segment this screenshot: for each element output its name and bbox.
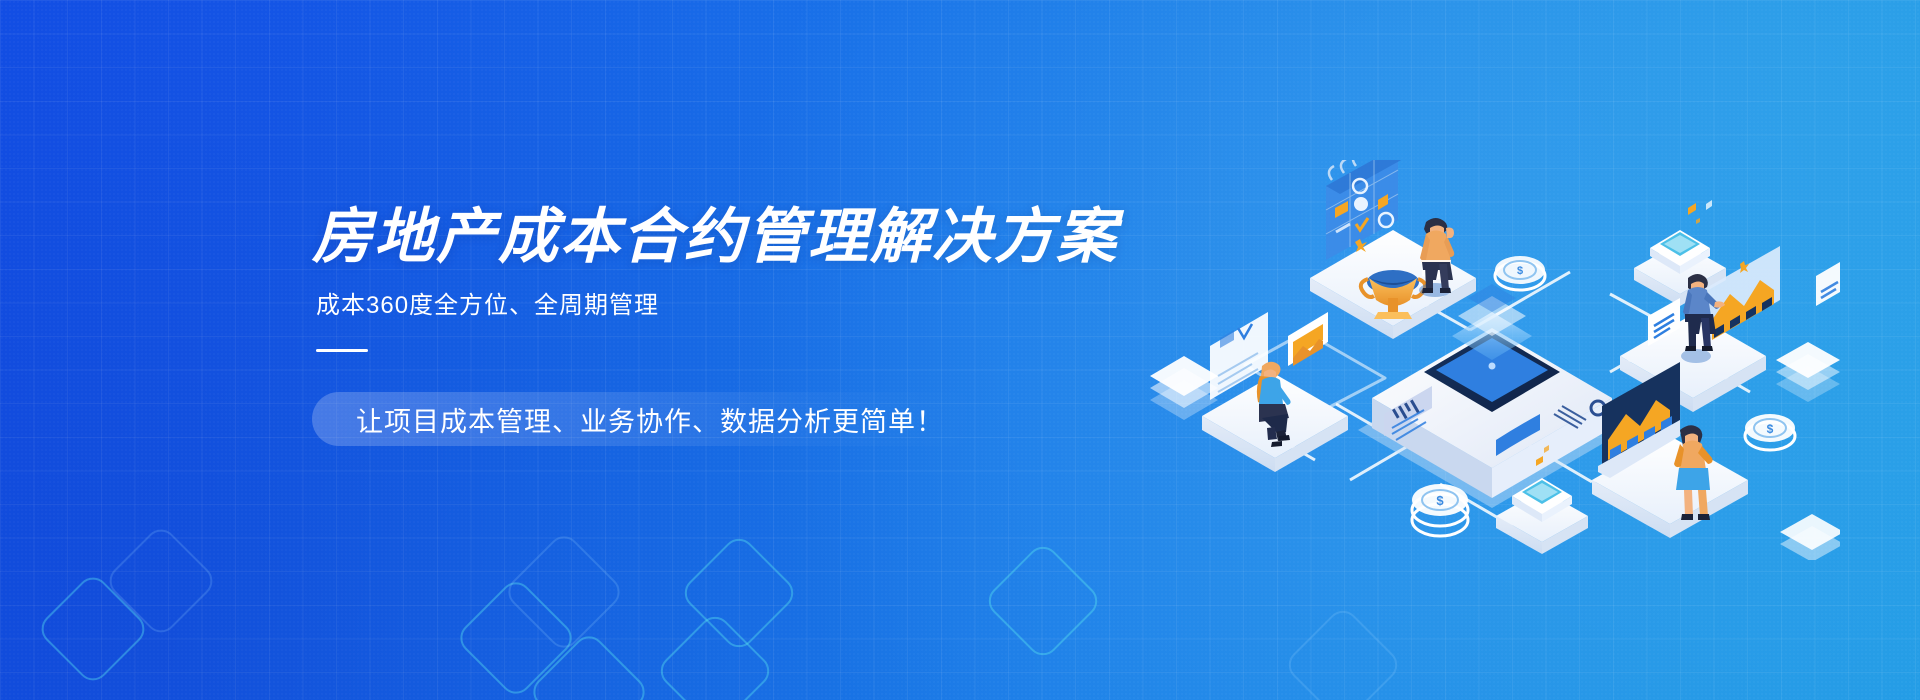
- svg-text:$: $: [1436, 493, 1444, 508]
- floating-plates-right: [1776, 342, 1840, 402]
- chart-screen-right: [1706, 246, 1780, 342]
- svg-text:$: $: [1767, 422, 1774, 436]
- coin-stack-right: $: [1745, 414, 1795, 450]
- coin-stack-lower-left: $: [1412, 484, 1468, 536]
- floating-plates-bottom: [1780, 514, 1840, 560]
- decor-diamond: [454, 576, 578, 700]
- hero-text-block: 房地产成本合约管理解决方案 成本360度全方位、全周期管理 让项目成本管理、业务…: [312, 205, 1212, 446]
- hero-banner: 房地产成本合约管理解决方案 成本360度全方位、全周期管理 让项目成本管理、业务…: [0, 0, 1920, 700]
- decor-diamond: [502, 530, 626, 654]
- photo-card-icon: [1288, 312, 1328, 366]
- floating-plates-left: [1150, 356, 1218, 420]
- edge-card-right: [1816, 262, 1840, 306]
- decor-diamond: [1282, 604, 1404, 700]
- decor-diamond: [103, 523, 219, 639]
- decor-diamond: [527, 630, 651, 700]
- decor-diamond: [654, 610, 776, 700]
- tagline-text: 让项目成本管理、业务协作、数据分析更简单！: [356, 400, 944, 439]
- coin-stack-upper: $: [1495, 256, 1545, 290]
- page-title: 房地产成本合约管理解决方案: [312, 205, 1212, 268]
- hero-illustration: $: [1140, 160, 1840, 560]
- decor-diamond: [35, 571, 151, 687]
- accent-rule: [316, 349, 368, 352]
- decor-diamond: [678, 532, 800, 654]
- svg-text:$: $: [1517, 265, 1523, 277]
- page-subtitle: 成本360度全方位、全周期管理: [316, 290, 1212, 321]
- decor-diamond: [982, 540, 1104, 662]
- tagline-pill: 让项目成本管理、业务协作、数据分析更简单！: [312, 392, 978, 446]
